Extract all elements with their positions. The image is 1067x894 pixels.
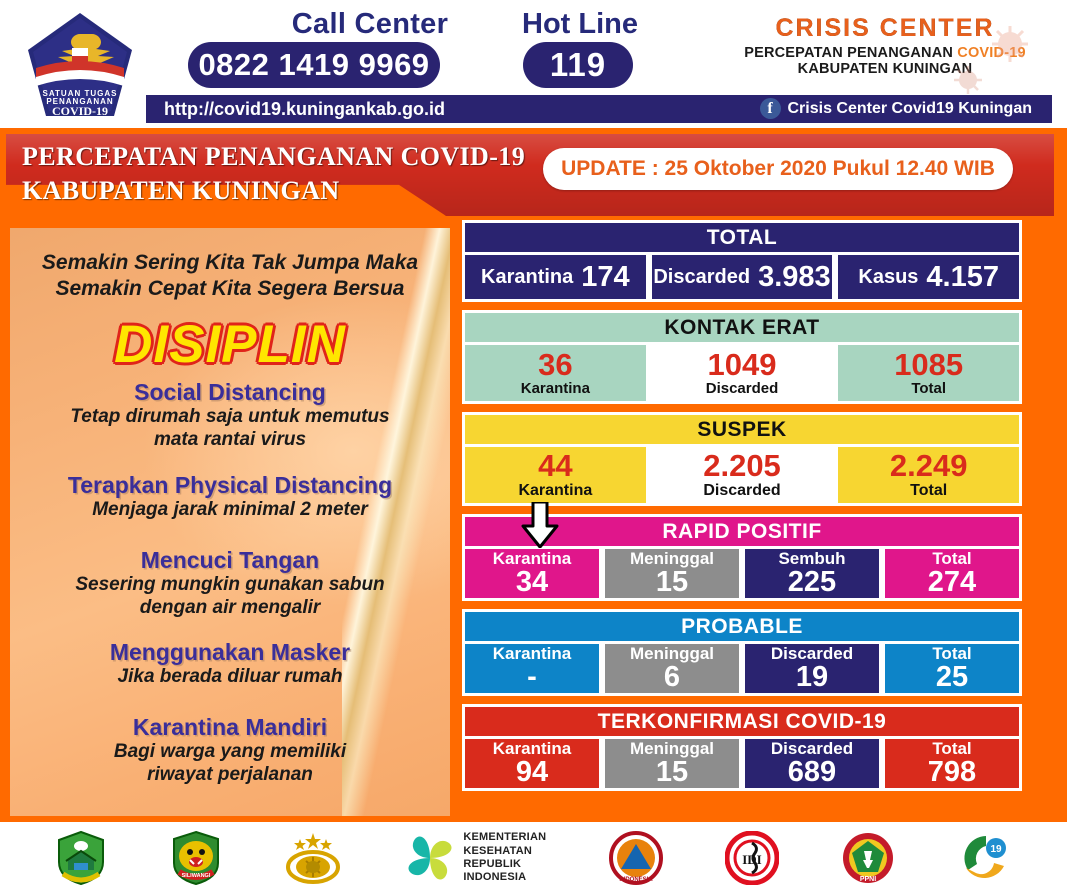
cell-value: 15 [656, 758, 688, 787]
statistics-panels: TOTAL Karantina 174 Discarded 3.983 Kasu… [462, 220, 1022, 799]
suspek-discarded-cell: 2.205 Discarded [649, 444, 836, 506]
kodam-siliwangi-logo: SILIWANGI [170, 830, 222, 886]
tip-body-line-1: Jika berada diluar rumah [10, 666, 450, 688]
panel-kontak-erat-title: KONTAK ERAT [462, 310, 1022, 342]
covid19-go-id-logo: 19 [958, 832, 1012, 884]
panel-terkonfirmasi: TERKONFIRMASI COVID-19 Karantina 94 Meni… [462, 704, 1022, 791]
tip-menggunakan-masker: Menggunakan Masker Jika berada diluar ru… [10, 640, 450, 688]
tip-head: Mencuci Tangan [10, 548, 450, 573]
cell-label: Discarded [703, 482, 780, 500]
header-bar: SATUAN TUGAS PENANGANAN COVID-19 Call Ce… [0, 0, 1067, 128]
svg-text:SILIWANGI: SILIWANGI [181, 873, 210, 879]
probable-total-cell: Total 25 [882, 641, 1022, 696]
virus-decoration-icon [924, 18, 1044, 98]
crisis-center-block: CRISIS CENTER PERCEPATAN PENANGANAN COVI… [720, 14, 1050, 88]
tip-mencuci-tangan: Mencuci Tangan Sesering mungkin gunakan … [10, 548, 450, 619]
panel-suspek-title: SUSPEK [462, 412, 1022, 444]
covid-dashboard-poster: SATUAN TUGAS PENANGANAN COVID-19 Call Ce… [0, 0, 1067, 894]
svg-text:COVID-19: COVID-19 [52, 104, 108, 118]
cell-value: 1049 [708, 349, 777, 381]
svg-text:PPNI: PPNI [860, 876, 876, 883]
facebook-icon: f [760, 98, 781, 119]
cell-label: Kasus [858, 266, 918, 289]
prevention-tips-panel: Semakin Sering Kita Tak Jumpa Maka Semak… [10, 228, 450, 816]
bnpb-logo: INDONESIA [609, 831, 663, 885]
panel-probable-title: PROBABLE [462, 609, 1022, 641]
cell-value: - [527, 663, 537, 692]
cell-value: 174 [581, 261, 629, 294]
banner-title-line-2: KABUPATEN KUNINGAN [22, 176, 340, 206]
tip-body-line-2: riwayat perjalanan [10, 764, 450, 786]
cell-value: 25 [936, 663, 968, 692]
tip-head: Karantina Mandiri [10, 715, 450, 740]
hot-line-number[interactable]: 119 [523, 42, 633, 88]
title-banner: PERCEPATAN PENANGANAN COVID-19 KABUPATEN… [0, 128, 1067, 220]
cell-value: 2.249 [890, 450, 968, 482]
kemenkes-line-2: KESEHATAN [463, 845, 546, 858]
cell-label: Total [910, 482, 947, 500]
svg-text:INDONESIA: INDONESIA [619, 877, 653, 883]
konfirmasi-karantina-cell: Karantina 94 [462, 736, 602, 791]
panel-suspek-row: 44 Karantina 2.205 Discarded 2.249 Total [462, 444, 1022, 506]
arrow-down-icon [520, 502, 560, 548]
total-kasus-cell: Kasus 4.157 [835, 252, 1022, 302]
panel-kontak-erat-row: 36 Karantina 1049 Discarded 1085 Total [462, 342, 1022, 404]
panel-kontak-erat: KONTAK ERAT 36 Karantina 1049 Discarded … [462, 310, 1022, 404]
panel-total-title: TOTAL [462, 220, 1022, 252]
total-discarded-cell: Discarded 3.983 [649, 252, 836, 302]
slogan-text: Semakin Sering Kita Tak Jumpa Maka Semak… [10, 250, 450, 301]
tip-body-line-1: Menjaga jarak minimal 2 meter [10, 499, 450, 521]
kontak-discarded-cell: 1049 Discarded [649, 342, 836, 404]
tip-physical-distancing: Terapkan Physical Distancing Menjaga jar… [10, 473, 450, 521]
kemenkes-line-1: KEMENTERIAN [463, 831, 546, 844]
konfirmasi-meninggal-cell: Meninggal 15 [602, 736, 742, 791]
cell-label: Discarded [653, 266, 750, 289]
banner-title-line-1: PERCEPATAN PENANGANAN COVID-19 [22, 142, 525, 172]
facebook-group[interactable]: f Crisis Center Covid19 Kuningan [760, 98, 1033, 119]
panel-terkonfirmasi-row: Karantina 94 Meninggal 15 Discarded 689 … [462, 736, 1022, 791]
website-url-link[interactable]: http://covid19.kuningankab.go.id [164, 99, 445, 120]
probable-meninggal-cell: Meninggal 6 [602, 641, 742, 696]
cell-value: 94 [516, 758, 548, 787]
probable-karantina-cell: Karantina - [462, 641, 602, 696]
panel-total-row: Karantina 174 Discarded 3.983 Kasus 4.15… [462, 252, 1022, 302]
cell-label: Total [911, 380, 946, 397]
call-center-number[interactable]: 0822 1419 9969 [188, 42, 440, 88]
cell-value: 6 [664, 663, 680, 692]
cell-value: 34 [516, 568, 548, 597]
hot-line-label: Hot Line [470, 8, 690, 41]
kontak-karantina-cell: 36 Karantina [462, 342, 649, 404]
tip-body-line-1: Tetap dirumah saja untuk memutus [10, 406, 450, 428]
panel-probable: PROBABLE Karantina - Meninggal 6 Discard… [462, 609, 1022, 696]
panel-rapid-positif-row: Karantina 34 Meninggal 15 Sembuh 225 Tot… [462, 546, 1022, 601]
ppni-logo: PPNI [841, 831, 895, 885]
tip-head: Terapkan Physical Distancing [10, 473, 450, 498]
cell-value: 44 [538, 450, 572, 482]
idi-logo: IDI [725, 831, 779, 885]
footer-logo-strip: SILIWANGI [0, 822, 1067, 894]
rapid-karantina-cell: Karantina 34 [462, 546, 602, 601]
kemenkes-caption: KEMENTERIAN KESEHATAN REPUBLIK INDONESIA [463, 831, 546, 885]
tip-karantina-mandiri: Karantina Mandiri Bagi warga yang memili… [10, 715, 450, 786]
url-bar: http://covid19.kuningankab.go.id f Crisi… [146, 95, 1052, 123]
cell-value: 274 [928, 568, 976, 597]
kabupaten-kuningan-logo [55, 830, 107, 886]
tip-body-line-1: Sesering mungkin gunakan sabun [10, 574, 450, 596]
tip-head: Social Distancing [10, 380, 450, 405]
cell-label: Karantina [518, 482, 592, 500]
rapid-total-cell: Total 274 [882, 546, 1022, 601]
suspek-karantina-cell: 44 Karantina [462, 444, 649, 506]
tip-body-line-1: Bagi warga yang memiliki [10, 741, 450, 763]
suspek-total-cell: 2.249 Total [835, 444, 1022, 506]
total-karantina-cell: Karantina 174 [462, 252, 649, 302]
polri-logo [284, 831, 342, 885]
update-timestamp-badge: UPDATE : 25 Oktober 2020 Pukul 12.40 WIB [543, 148, 1013, 190]
kontak-total-cell: 1085 Total [835, 342, 1022, 404]
panel-probable-row: Karantina - Meninggal 6 Discarded 19 Tot… [462, 641, 1022, 696]
rapid-meninggal-cell: Meninggal 15 [602, 546, 742, 601]
kemenkes-line-3: REPUBLIK [463, 858, 546, 871]
panel-total: TOTAL Karantina 174 Discarded 3.983 Kasu… [462, 220, 1022, 302]
cell-value: 36 [538, 349, 572, 381]
kemenkes-logo: KEMENTERIAN KESEHATAN REPUBLIK INDONESIA [404, 831, 546, 885]
satgas-covid19-logo: SATUAN TUGAS PENANGANAN COVID-19 [24, 10, 136, 122]
panel-rapid-positif: RAPID POSITIF Karantina 34 Meninggal 15 … [462, 514, 1022, 601]
probable-discarded-cell: Discarded 19 [742, 641, 882, 696]
cell-value: 4.157 [926, 261, 999, 294]
disiplin-headline: DISIPLIN [10, 314, 450, 375]
cell-label: Karantina [521, 380, 590, 397]
cell-label: Karantina [481, 266, 573, 289]
facebook-page-name: Crisis Center Covid19 Kuningan [788, 100, 1033, 118]
tip-body-line-2: mata rantai virus [10, 429, 450, 451]
slogan-line-1: Semakin Sering Kita Tak Jumpa Maka [10, 250, 450, 276]
rapid-sembuh-cell: Sembuh 225 [742, 546, 882, 601]
cell-value: 15 [656, 568, 688, 597]
tip-body-line-2: dengan air mengalir [10, 597, 450, 619]
tip-social-distancing: Social Distancing Tetap dirumah saja unt… [10, 380, 450, 451]
cell-label: Discarded [706, 380, 779, 397]
konfirmasi-total-cell: Total 798 [882, 736, 1022, 791]
cell-value: 19 [796, 663, 828, 692]
cell-value: 1085 [894, 349, 963, 381]
kemenkes-line-4: INDONESIA [463, 871, 546, 884]
panel-suspek: SUSPEK 44 Karantina 2.205 Discarded 2.24… [462, 412, 1022, 506]
tip-head: Menggunakan Masker [10, 640, 450, 665]
cell-value: 798 [928, 758, 976, 787]
panel-terkonfirmasi-title: TERKONFIRMASI COVID-19 [462, 704, 1022, 736]
cell-value: 225 [788, 568, 836, 597]
svg-text:19: 19 [990, 844, 1002, 855]
slogan-line-2: Semakin Cepat Kita Segera Bersua [10, 276, 450, 302]
svg-text:IDI: IDI [742, 852, 762, 867]
cell-value: 2.205 [703, 450, 781, 482]
cell-value: 689 [788, 758, 836, 787]
konfirmasi-discarded-cell: Discarded 689 [742, 736, 882, 791]
cell-value: 3.983 [758, 261, 831, 294]
